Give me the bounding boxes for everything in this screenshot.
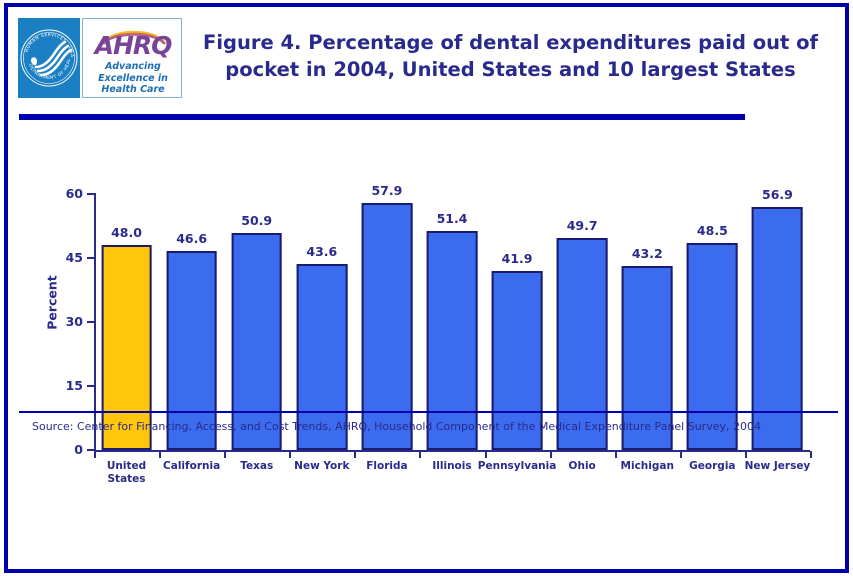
y-axis-tick-mark	[87, 449, 94, 451]
bar[interactable]	[557, 238, 608, 450]
x-axis-category-label-line: New Jersey	[732, 460, 822, 473]
y-axis-tick-mark	[87, 257, 94, 259]
y-axis-title: Percent	[45, 243, 60, 363]
source-note: Source: Center for Financing, Access, an…	[32, 420, 832, 433]
bar-value-label: 48.5	[697, 223, 728, 238]
bar-value-label: 43.2	[632, 246, 663, 261]
y-axis-tick-mark	[87, 385, 94, 387]
x-axis-tick-mark	[810, 451, 812, 458]
page-title: Figure 4. Percentage of dental expenditu…	[188, 29, 833, 83]
bar-value-label: 46.6	[176, 231, 207, 246]
y-axis-tick-label: 45	[66, 250, 83, 265]
bar-value-label: 43.6	[306, 244, 337, 259]
ahrq-tagline: Advancing Excellence in Health Care	[83, 61, 182, 96]
page-title-line-1: Figure 4. Percentage of dental expenditu…	[188, 29, 833, 56]
bar-value-label: 48.0	[111, 225, 142, 240]
x-axis-tick-mark	[224, 451, 226, 458]
x-axis-tick-mark	[680, 451, 682, 458]
ahrq-tagline-line-1: Advancing	[83, 61, 182, 73]
x-axis-tick-mark	[159, 451, 161, 458]
source-divider	[19, 411, 838, 413]
ahrq-tagline-line-2: Excellence in	[83, 73, 182, 85]
bar[interactable]	[752, 207, 803, 450]
ahrq-tagline-line-3: Health Care	[83, 84, 182, 96]
x-axis-category-label-line: States	[82, 473, 172, 486]
y-axis-tick-label: 60	[66, 186, 83, 201]
ahrq-wordmark: AHRQ	[83, 33, 182, 58]
x-axis-line	[94, 450, 810, 452]
bar[interactable]	[427, 231, 478, 450]
y-axis-tick-mark	[87, 321, 94, 323]
x-axis-tick-mark	[485, 451, 487, 458]
hhs-seal-icon: HUMAN SERVICES . USA DEPARTMENT OF HEALT…	[18, 18, 80, 98]
bar-value-label: 56.9	[762, 187, 793, 202]
y-axis-tick-label: 0	[74, 442, 83, 457]
figure-page: HUMAN SERVICES . USA DEPARTMENT OF HEALT…	[0, 0, 853, 576]
bar[interactable]	[231, 233, 282, 450]
y-axis-tick-label: 15	[66, 378, 83, 393]
bar[interactable]	[687, 243, 738, 450]
x-axis-tick-mark	[615, 451, 617, 458]
bar-value-label: 41.9	[502, 251, 533, 266]
bar-value-label: 50.9	[241, 213, 272, 228]
x-axis-tick-mark	[94, 451, 96, 458]
x-axis-tick-mark	[745, 451, 747, 458]
x-axis-category-label: New Jersey	[732, 460, 822, 473]
page-title-line-2: pocket in 2004, United States and 10 lar…	[188, 56, 833, 83]
page-frame: HUMAN SERVICES . USA DEPARTMENT OF HEALT…	[4, 3, 849, 573]
bar-value-label: 49.7	[567, 218, 598, 233]
y-axis-tick-label: 30	[66, 314, 83, 329]
bar-value-label: 57.9	[371, 183, 402, 198]
x-axis-tick-mark	[354, 451, 356, 458]
x-axis-tick-mark	[550, 451, 552, 458]
x-axis-tick-mark	[289, 451, 291, 458]
bar-chart: Percent 015304560 48.0UnitedStates46.6Ca…	[8, 120, 853, 510]
figure-header: HUMAN SERVICES . USA DEPARTMENT OF HEALT…	[8, 7, 853, 107]
bar-value-label: 51.4	[437, 211, 468, 226]
y-axis-tick-mark	[87, 193, 94, 195]
x-axis-tick-mark	[419, 451, 421, 458]
ahrq-logo: AHRQ Advancing Excellence in Health Care	[82, 18, 182, 98]
